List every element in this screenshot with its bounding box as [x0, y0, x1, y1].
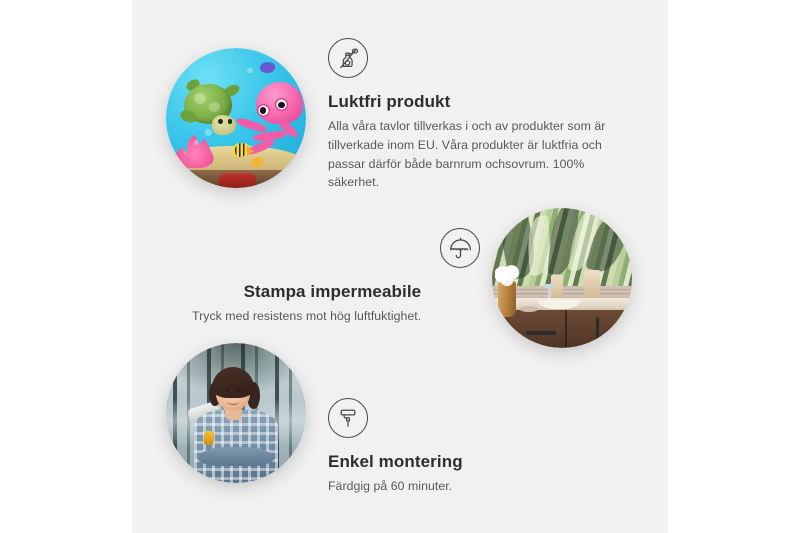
cabinet-handle	[596, 317, 600, 342]
paint-roller-icon	[328, 398, 368, 438]
turtle-eye	[218, 119, 223, 124]
feature-description: Färdgig på 60 minuter.	[328, 477, 463, 496]
feature-description: Alla våra tavlor tillverkas i och av pro…	[328, 117, 634, 192]
drawer-handle	[526, 331, 557, 335]
feature-text-odour-free: Luktfri produkt Alla våra tavlor tillver…	[328, 92, 634, 192]
feature-description: Tryck med resistens mot hög luftfuktighe…	[192, 307, 421, 326]
wooden-vanity	[492, 310, 632, 348]
woman-with-paint-roller-photo	[166, 343, 306, 483]
umbrella-icon	[440, 228, 480, 268]
paint-roller-grip	[203, 431, 214, 446]
white-flowers	[495, 265, 520, 286]
screenshot-stage: Luktfri produkt Alla våra tavlor tillver…	[0, 0, 800, 533]
turtle-head	[212, 115, 236, 135]
feature-title: Enkel montering	[328, 452, 463, 472]
feature-text-easy-installation: Enkel montering Färdgig på 60 minuter.	[328, 452, 463, 496]
feature-waterproof-print: Stampa impermeabile Tryck med resistens …	[192, 228, 480, 268]
bathroom-accessory	[584, 270, 599, 301]
feature-easy-installation: Enkel montering Färdgig på 60 minuter.	[328, 398, 628, 438]
bathroom-tropical-wallpaper-photo	[492, 208, 632, 348]
bubble-icon	[247, 68, 253, 74]
photo-inner-bath	[492, 208, 632, 348]
octopus-eye	[257, 104, 270, 117]
content-panel: Luktfri produkt Alla våra tavlor tillver…	[132, 0, 668, 533]
underwater-kids-scene-photo	[166, 48, 306, 188]
feature-text-waterproof-print: Stampa impermeabile Tryck med resistens …	[192, 282, 421, 326]
octopus-eye	[275, 98, 288, 111]
photo-inner-forest	[166, 343, 306, 483]
folded-arms	[198, 447, 274, 467]
soap-dish	[520, 306, 538, 312]
vanity-seam	[565, 310, 567, 348]
feature-odour-free: Luktfri produkt Alla våra tavlor tillver…	[328, 38, 634, 78]
photo-inner-sea	[166, 48, 306, 188]
seabed-object	[219, 173, 255, 188]
no-fragrance-icon	[328, 38, 368, 78]
feature-title: Luktfri produkt	[328, 92, 634, 112]
feature-title: Stampa impermeabile	[192, 282, 421, 302]
